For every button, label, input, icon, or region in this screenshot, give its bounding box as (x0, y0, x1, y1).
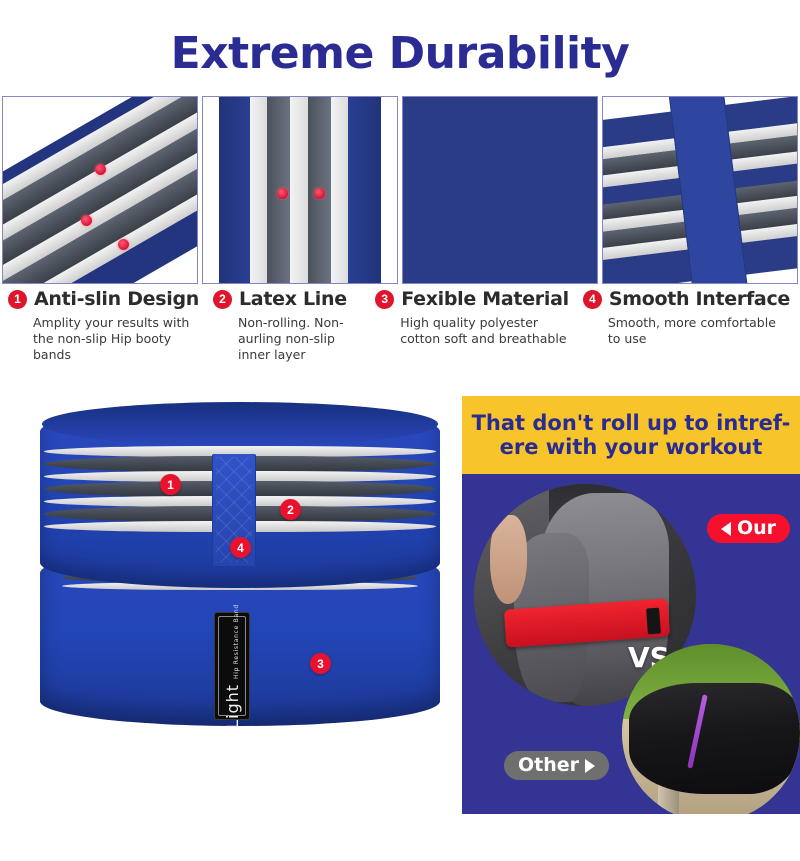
feature-image-1-anti-slip-closeup (2, 96, 198, 284)
product-label-strength: Light (223, 683, 242, 728)
feature-caption-row: 1 Anti-slin Design Amplity your results … (0, 288, 800, 360)
page-title-bar: Extreme Durability (0, 22, 800, 84)
promo-headline-banner: That don't roll up to intref- ere with y… (462, 396, 800, 474)
feature-caption-4: 4 Smooth Interface Smooth, more comforta… (577, 288, 798, 360)
feature-title-2: Latex Line (239, 288, 347, 310)
feature-image-2-latex-line-closeup (202, 96, 398, 284)
feature-number-badge-4: 4 (583, 290, 602, 309)
product-marketing-page: Extreme Durability (0, 0, 800, 861)
feature-image-3-flexible-material-closeup (402, 96, 598, 284)
promo-headline-line-2: ere with your workout (500, 435, 763, 459)
triangle-left-icon (721, 522, 731, 536)
product-callout-2: 2 (280, 499, 301, 520)
silicone-dot-icon (118, 239, 129, 250)
feature-image-row (0, 96, 800, 284)
product-callout-4: 4 (230, 537, 251, 558)
feature-body-2: Non-rolling. Non-aurling non-slip inner … (238, 315, 361, 363)
triangle-right-icon (585, 759, 595, 773)
product-callout-3: 3 (310, 653, 331, 674)
feature-body-1: Amplity your results with the non-slip H… (33, 315, 199, 363)
feature-caption-2: 2 Latex Line Non-rolling. Non-aurling no… (207, 288, 369, 360)
silicone-dot-icon (314, 188, 325, 199)
silicone-dot-icon (81, 215, 92, 226)
feature-image-4-smooth-interface-closeup (602, 96, 798, 284)
feature-number-badge-1: 1 (8, 290, 27, 309)
product-label-name: Hip Resistance Band (233, 604, 240, 679)
other-badge-label: Other (518, 756, 579, 775)
product-callout-1: 1 (160, 474, 181, 495)
product-photo-hip-resistance-bands: Light Hip Resistance Band 1 2 4 3 (18, 396, 458, 741)
other-badge: Other (504, 751, 609, 780)
feature-body-4: Smooth, more comfortable to use (608, 315, 790, 347)
silicone-dot-icon (95, 164, 106, 175)
feature-title-3: Fexible Material (401, 288, 569, 310)
our-badge-label: Our (737, 519, 776, 538)
band-upper-rim (42, 402, 438, 446)
silicone-dot-icon (277, 188, 288, 199)
feature-caption-1: 1 Anti-slin Design Amplity your results … (2, 288, 207, 360)
feature-number-badge-2: 2 (213, 290, 232, 309)
promo-headline-line-1: That don't roll up to intref- (472, 411, 791, 435)
promo-comparison-panel: That don't roll up to intref- ere with y… (462, 396, 800, 814)
product-label-tag: Light Hip Resistance Band (214, 612, 250, 720)
our-badge: Our (707, 514, 790, 543)
feature-caption-3: 3 Fexible Material High quality polyeste… (369, 288, 577, 360)
feature-number-badge-3: 3 (375, 290, 394, 309)
feature-title-4: Smooth Interface (609, 288, 790, 310)
feature-body-3: High quality polyester cotton soft and b… (400, 315, 569, 347)
other-product-photo (622, 644, 800, 814)
feature-title-1: Anti-slin Design (34, 288, 199, 310)
page-title: Extreme Durability (171, 28, 630, 79)
